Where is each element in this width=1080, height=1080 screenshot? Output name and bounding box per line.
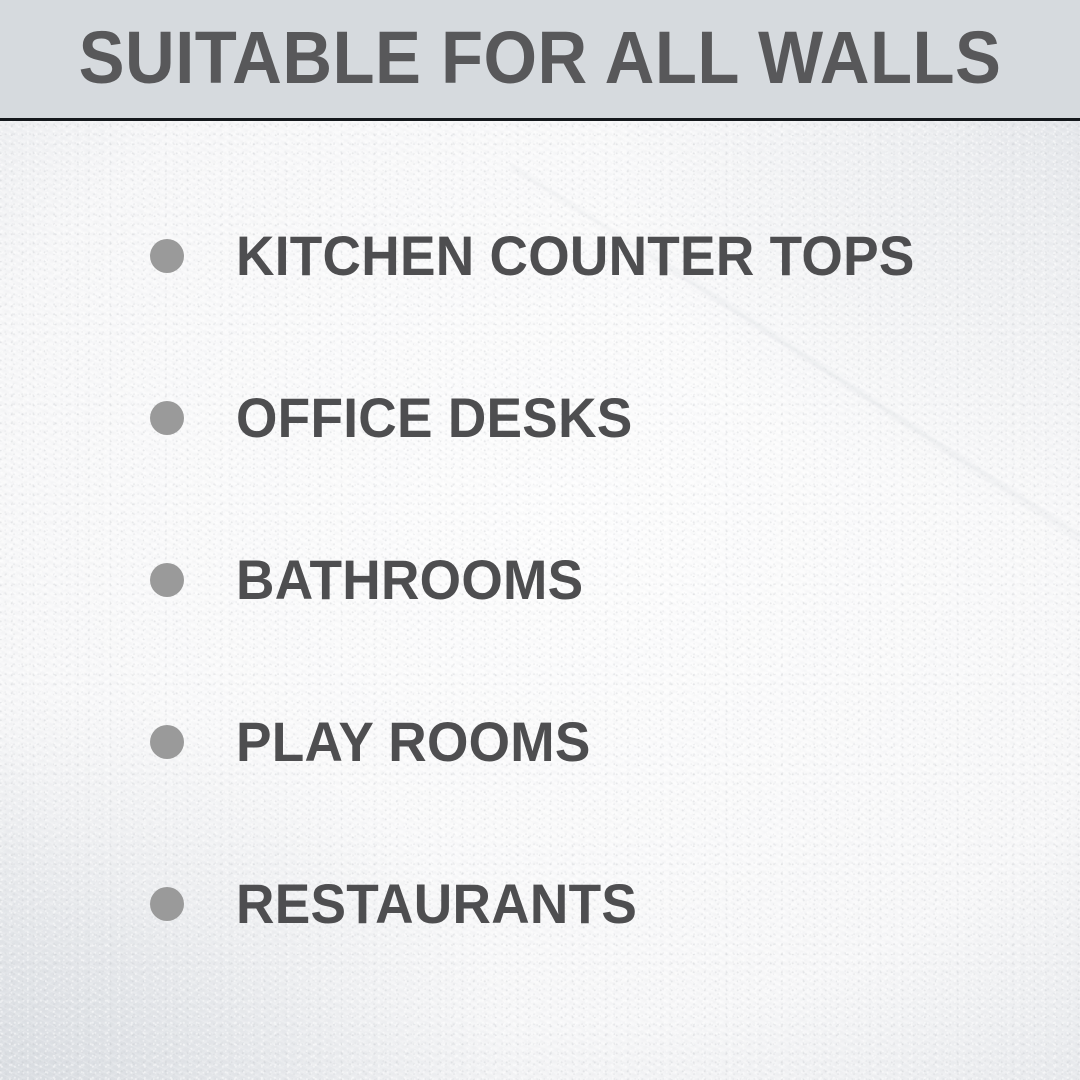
- list-item: KITCHEN COUNTER TOPS: [150, 226, 950, 286]
- list-item: RESTAURANTS: [150, 874, 658, 934]
- bullet-dot-icon: [150, 725, 184, 759]
- list-item: OFFICE DESKS: [150, 388, 653, 448]
- page-title: SUITABLE FOR ALL WALLS: [38, 0, 1042, 118]
- list-item-label: RESTAURANTS: [236, 876, 637, 932]
- list-item: PLAY ROOMS: [150, 712, 609, 772]
- bullet-dot-icon: [150, 239, 184, 273]
- bullet-dot-icon: [150, 887, 184, 921]
- list-item-label: KITCHEN COUNTER TOPS: [236, 228, 915, 284]
- bullet-dot-icon: [150, 401, 184, 435]
- list-item-label: BATHROOMS: [236, 552, 583, 608]
- list-item: BATHROOMS: [150, 550, 602, 610]
- list-item-label: PLAY ROOMS: [236, 714, 591, 770]
- product-feature-panel: SUITABLE FOR ALL WALLS KITCHEN COUNTER T…: [0, 0, 1080, 1080]
- textured-surface: KITCHEN COUNTER TOPS OFFICE DESKS BATHRO…: [0, 121, 1080, 1080]
- bullet-dot-icon: [150, 563, 184, 597]
- feature-list: KITCHEN COUNTER TOPS OFFICE DESKS BATHRO…: [0, 121, 1080, 1080]
- list-item-label: OFFICE DESKS: [236, 390, 633, 446]
- header-band: SUITABLE FOR ALL WALLS: [0, 0, 1080, 118]
